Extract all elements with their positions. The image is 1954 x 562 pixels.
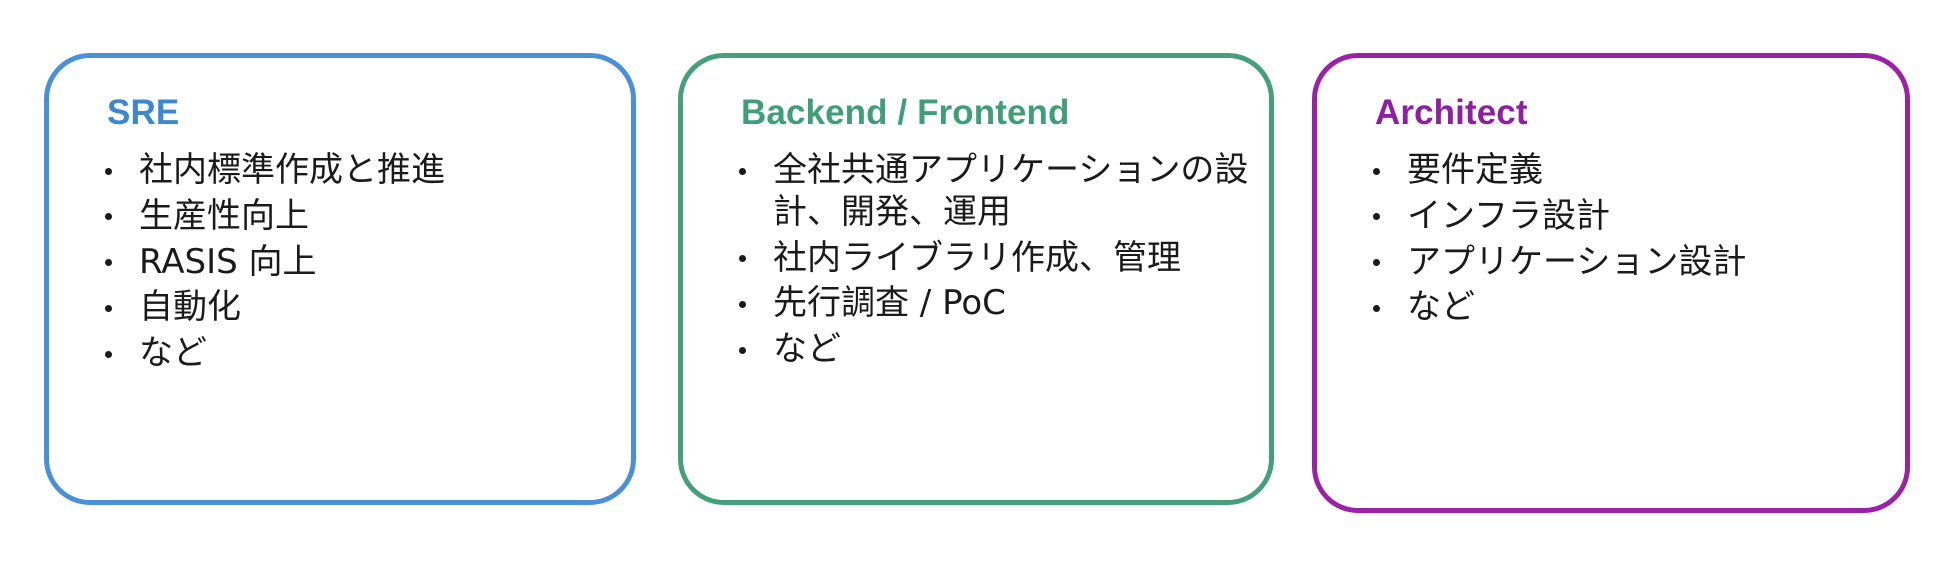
list-item: 自動化 <box>93 287 613 329</box>
bullet-dot-icon <box>739 168 746 175</box>
list-item-label: RASIS 向上 <box>139 242 613 284</box>
list-item-label: インフラ設計 <box>1407 196 1887 238</box>
list-item: 先行調査 / PoC <box>727 283 1251 325</box>
list-item: など <box>727 329 1251 371</box>
bullet-dot-icon <box>105 351 112 358</box>
slide-canvas: SRE 社内標準作成と推進 生産性向上 RASIS 向上 自動化 など <box>0 0 1954 562</box>
list-item-label: アプリケーション設計 <box>1407 242 1887 284</box>
bullet-dot-icon <box>1373 213 1380 220</box>
bullet-list-sre: 社内標準作成と推進 生産性向上 RASIS 向上 自動化 など <box>93 150 613 379</box>
bullet-list-backend-frontend: 全社共通アプリケーションの設計、開発、運用 社内ライブラリ作成、管理 先行調査 … <box>727 150 1251 375</box>
bullet-dot-icon <box>739 347 746 354</box>
list-item: アプリケーション設計 <box>1361 242 1887 284</box>
list-item-label: 社内ライブラリ作成、管理 <box>773 238 1251 280</box>
list-item-label: など <box>773 329 1251 371</box>
card-title-backend-frontend: Backend / Frontend <box>741 94 1070 133</box>
bullet-dot-icon <box>739 301 746 308</box>
bullet-dot-icon <box>105 213 112 220</box>
bullet-dot-icon <box>105 259 112 266</box>
list-item: 要件定義 <box>1361 150 1887 192</box>
list-item: 社内標準作成と推進 <box>93 150 613 192</box>
bullet-dot-icon <box>1373 168 1380 175</box>
card-title-architect: Architect <box>1375 94 1528 133</box>
bullet-dot-icon <box>739 255 746 262</box>
list-item: など <box>93 333 613 375</box>
bullet-list-architect: 要件定義 インフラ設計 アプリケーション設計 など <box>1361 150 1887 333</box>
role-card-backend-frontend: Backend / Frontend 全社共通アプリケーションの設計、開発、運用… <box>678 53 1274 505</box>
list-item-label: 生産性向上 <box>139 196 613 238</box>
bullet-dot-icon <box>1373 259 1380 266</box>
list-item-label: 全社共通アプリケーションの設計、開発、運用 <box>773 150 1251 234</box>
bullet-dot-icon <box>105 168 112 175</box>
list-item-label: など <box>1407 287 1887 329</box>
list-item-label: 先行調査 / PoC <box>773 283 1251 325</box>
list-item: 全社共通アプリケーションの設計、開発、運用 <box>727 150 1251 234</box>
list-item: RASIS 向上 <box>93 242 613 284</box>
card-title-sre: SRE <box>107 94 179 133</box>
bullet-dot-icon <box>105 305 112 312</box>
list-item: インフラ設計 <box>1361 196 1887 238</box>
bullet-dot-icon <box>1373 305 1380 312</box>
list-item-label: など <box>139 333 613 375</box>
role-card-architect: Architect 要件定義 インフラ設計 アプリケーション設計 など <box>1312 53 1910 513</box>
list-item-label: 要件定義 <box>1407 150 1887 192</box>
list-item: 生産性向上 <box>93 196 613 238</box>
list-item-label: 社内標準作成と推進 <box>139 150 613 192</box>
role-card-sre: SRE 社内標準作成と推進 生産性向上 RASIS 向上 自動化 など <box>44 53 636 505</box>
list-item-label: 自動化 <box>139 287 613 329</box>
list-item: など <box>1361 287 1887 329</box>
list-item: 社内ライブラリ作成、管理 <box>727 238 1251 280</box>
